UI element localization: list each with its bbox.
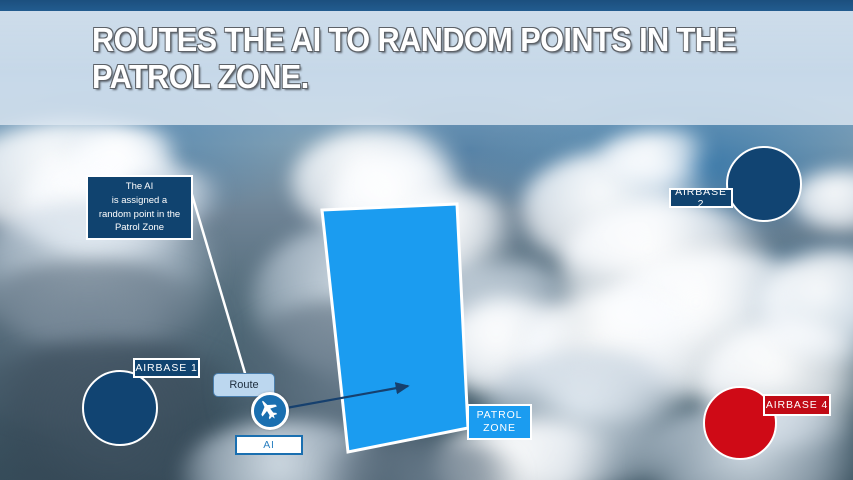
header-accent-strip bbox=[0, 0, 853, 11]
route-label-text: Route bbox=[229, 379, 258, 391]
airbase-4-label-text: AIRBASE 4 bbox=[766, 399, 828, 411]
patrol-zone-label[interactable]: PATROL ZONE bbox=[467, 404, 532, 440]
callout-box: The AI is assigned a random point in the… bbox=[86, 175, 193, 240]
airbase-1-label[interactable]: AIRBASE 1 bbox=[133, 358, 200, 378]
airbase-4-label[interactable]: AIRBASE 4 bbox=[763, 394, 831, 416]
slide-canvas: ROUTES THE AI TO RANDOM POINTS IN THE PA… bbox=[0, 0, 853, 480]
patrol-zone-label-text: PATROL ZONE bbox=[477, 409, 523, 435]
page-title: ROUTES THE AI TO RANDOM POINTS IN THE PA… bbox=[92, 22, 743, 96]
airbase-2-marker[interactable] bbox=[726, 146, 802, 222]
airbase-2-label-text: AIRBASE 2 bbox=[671, 186, 731, 210]
ai-label-text: AI bbox=[263, 439, 275, 451]
airbase-1-marker[interactable] bbox=[82, 370, 158, 446]
ai-label[interactable]: AI bbox=[235, 435, 303, 455]
callout-text: The AI is assigned a random point in the… bbox=[99, 180, 180, 235]
ai-aircraft-marker[interactable] bbox=[251, 392, 289, 430]
airbase-1-label-text: AIRBASE 1 bbox=[135, 362, 197, 374]
jet-fighter-icon bbox=[253, 393, 287, 429]
airbase-2-label[interactable]: AIRBASE 2 bbox=[669, 188, 733, 208]
